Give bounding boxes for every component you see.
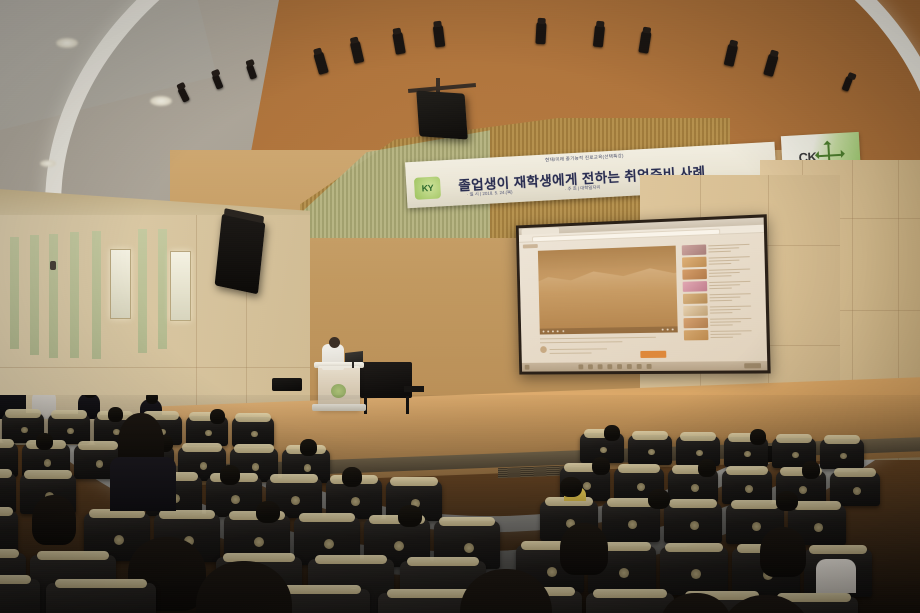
auditorium-seat xyxy=(820,439,864,469)
audience-head xyxy=(802,461,820,479)
ceiling-speaker xyxy=(416,90,468,139)
microphone-stand xyxy=(352,360,354,368)
video-sky xyxy=(538,246,676,271)
banner-meta-host: · 주 최 | 대학일자리 xyxy=(565,184,601,192)
avatar xyxy=(540,346,547,353)
auditorium-seat xyxy=(602,502,660,542)
audience-head xyxy=(592,457,610,475)
list-item[interactable] xyxy=(682,267,756,280)
auditorium-seat xyxy=(628,435,672,465)
audience-head xyxy=(560,477,582,497)
auditorium-seat xyxy=(586,593,674,613)
list-item[interactable] xyxy=(683,292,757,305)
list-item[interactable] xyxy=(682,255,756,269)
audience-head xyxy=(750,429,766,445)
line-array-speaker xyxy=(215,214,266,295)
video-landscape xyxy=(538,261,678,334)
list-item[interactable] xyxy=(683,317,757,330)
audience-head xyxy=(32,495,76,545)
audience-head xyxy=(256,501,280,523)
video-player[interactable] xyxy=(538,246,678,335)
os-taskbar[interactable] xyxy=(522,361,768,372)
audience-head xyxy=(776,491,798,511)
audience-person-white-top xyxy=(816,559,856,593)
auditorium-seat xyxy=(722,470,772,504)
list-item[interactable] xyxy=(683,280,757,293)
piano-bench xyxy=(404,386,424,392)
auditorium-seat xyxy=(232,417,274,447)
stage-floor-monitor xyxy=(272,378,302,391)
auditorium-seat xyxy=(46,583,156,613)
security-camera-icon xyxy=(50,261,56,270)
auditorium-seat xyxy=(0,579,40,613)
auditorium-seat xyxy=(664,503,722,543)
list-item[interactable] xyxy=(683,304,757,317)
auditorium-seat xyxy=(660,547,728,595)
audience-head xyxy=(220,465,240,485)
ceiling-downlight xyxy=(40,160,56,167)
related-videos-list[interactable] xyxy=(682,243,758,339)
stage-spotlight xyxy=(535,22,546,44)
projected-desktop xyxy=(519,217,768,371)
audience-head xyxy=(398,505,422,527)
subscribe-button[interactable] xyxy=(640,351,666,358)
ceiling-downlight xyxy=(150,96,172,106)
wall-light-niche xyxy=(170,251,191,321)
video-controls[interactable] xyxy=(540,326,678,334)
audience-head xyxy=(36,433,53,450)
list-item[interactable] xyxy=(684,329,758,341)
audience-head xyxy=(760,527,806,577)
audience-head xyxy=(560,523,608,575)
audience-area xyxy=(0,395,920,613)
audience-head xyxy=(698,459,716,477)
audience-head xyxy=(604,425,620,441)
ceiling-downlight xyxy=(56,38,78,48)
audience-head xyxy=(210,409,225,424)
auditorium-photo: KY 현재/미래 중기능적 진로교육(선택특강) 졸업생이 재학생에게 전하는 … xyxy=(0,0,920,613)
audience-head xyxy=(108,407,123,422)
audience-head xyxy=(300,439,317,456)
banner-meta-date: · 일 시 | 2018. 5. 24.(목) xyxy=(467,189,513,198)
projector-screen xyxy=(516,214,771,374)
comment-section xyxy=(540,336,679,361)
audience-person-body xyxy=(110,457,176,511)
wall-light-niche xyxy=(110,249,131,319)
audience-head xyxy=(648,489,670,509)
site-logo-icon xyxy=(523,244,538,248)
presenter-head xyxy=(329,337,340,348)
upright-piano xyxy=(360,362,412,398)
audience-head xyxy=(342,467,362,487)
ky-logo-icon: KY xyxy=(414,176,441,199)
audience-head xyxy=(146,395,158,404)
